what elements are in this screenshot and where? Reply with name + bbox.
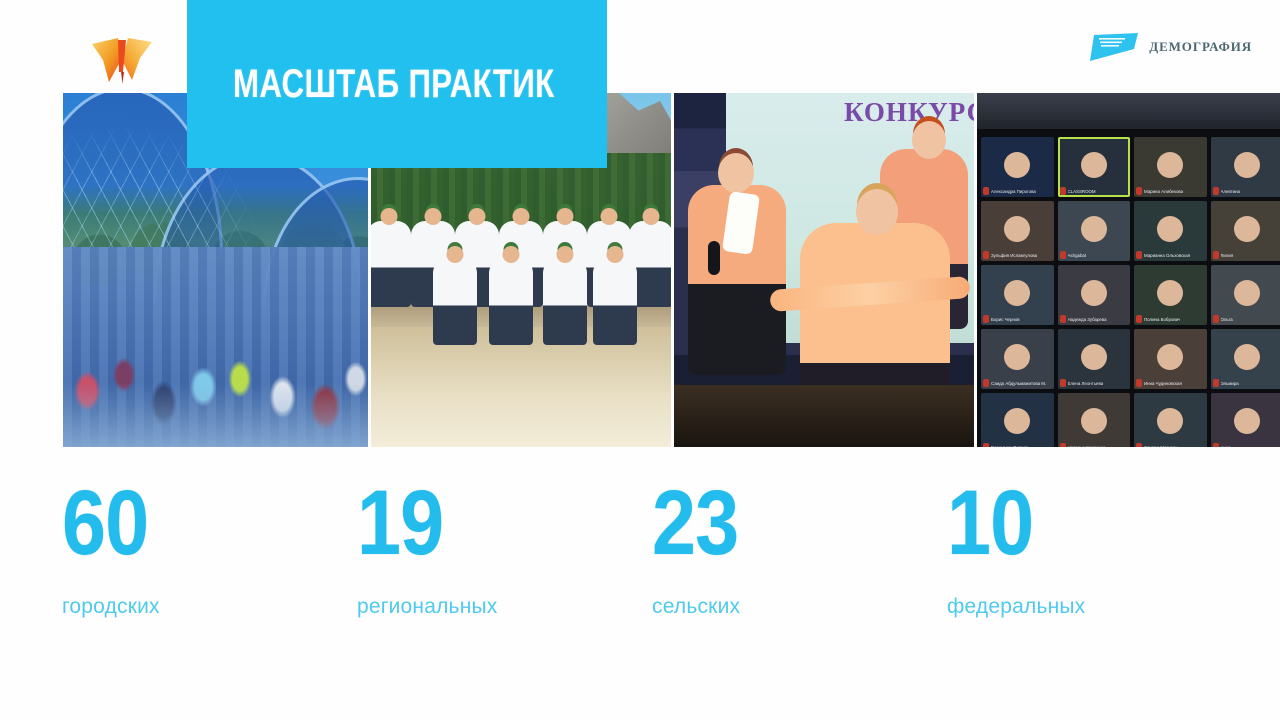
- mic-muted-icon: [1213, 379, 1219, 387]
- participant-nametag: Марианна Ольховская: [1136, 251, 1190, 259]
- participant-name-label: Лилия: [1221, 253, 1234, 258]
- mic-muted-icon: [1213, 315, 1219, 323]
- participant-nametag: Владимир Попков: [983, 443, 1028, 447]
- mic-muted-icon: [983, 251, 989, 259]
- mic-muted-icon: [1060, 379, 1066, 387]
- mic-muted-icon: [1213, 443, 1219, 447]
- zoom-participant-tile[interactable]: Эльмира: [1211, 329, 1280, 389]
- participant-name-label: Владимир Попков: [991, 445, 1028, 448]
- mic-muted-icon: [1136, 443, 1142, 447]
- participant-nametag: Ольга: [1213, 315, 1233, 323]
- participant-nametag: Лилия: [1213, 251, 1234, 259]
- participant-avatar: [1004, 216, 1030, 242]
- stage-banner-text: КОНКУРС: [844, 97, 974, 128]
- participant-name-label: Саида Абдульмажитова М.: [991, 381, 1046, 386]
- zoom-participant-tile[interactable]: Борис Чернов: [981, 265, 1054, 325]
- participant-name-label: Марина Алибекова: [1144, 189, 1183, 194]
- participant-name-label: Ольга: [1221, 317, 1233, 322]
- zoom-participant-tile[interactable]: Марина Алибекова: [1134, 137, 1207, 197]
- mic-muted-icon: [1060, 187, 1066, 195]
- stat-value: 10: [947, 480, 1185, 567]
- demografia-flag-icon: [1088, 31, 1140, 63]
- zoom-participant-tile[interactable]: Полина Бобрович: [1134, 265, 1207, 325]
- participant-avatar: [1157, 344, 1183, 370]
- brand-name-label: ДЕМОГРАФИЯ: [1149, 39, 1252, 55]
- stat-rural: 23 сельских: [634, 480, 929, 660]
- participant-avatar: [1157, 408, 1183, 434]
- participant-avatar: [1004, 344, 1030, 370]
- slide-root: ДЕМОГРАФИЯ МАСШТАБ ПРАКТИК: [0, 0, 1280, 720]
- stat-label: городских: [62, 595, 339, 619]
- mic-muted-icon: [1213, 187, 1219, 195]
- microphone-icon: [708, 241, 720, 275]
- origami-crane-icon: [88, 30, 156, 86]
- group-person: [489, 259, 533, 345]
- sand-layer: [371, 327, 671, 447]
- group-person: [433, 259, 477, 345]
- participant-avatar: [1157, 216, 1183, 242]
- stat-federal: 10 федеральных: [929, 480, 1224, 660]
- zoom-participant-tile[interactable]: Анна: [1211, 393, 1280, 447]
- participant-nametag: Борис Чернов: [983, 315, 1020, 323]
- participant-nametag: Алевтина: [1213, 187, 1241, 195]
- participant-name-label: Полина Бобрович: [1144, 317, 1180, 322]
- group-person: [593, 259, 637, 345]
- participant-name-label: CLASSROOM: [1068, 189, 1096, 194]
- stat-value: 19: [357, 480, 595, 567]
- zoom-participant-grid: Александра ПироговаCLASSROOMМарина Алибе…: [981, 137, 1280, 447]
- participant-name-label: Марианна Ольховская: [1144, 253, 1190, 258]
- participant-avatar: [1081, 280, 1107, 306]
- participant-name-label: Борис Чернов: [991, 317, 1020, 322]
- mic-muted-icon: [1060, 251, 1066, 259]
- participant-nametag: Саида Абдульмажитова М.: [983, 379, 1046, 387]
- participant-name-label: Наталья Сорокина: [1068, 445, 1106, 448]
- participant-nametag: Полина Бобрович: [1136, 315, 1180, 323]
- mic-muted-icon: [983, 379, 989, 387]
- performer-head-left: [718, 153, 754, 193]
- participant-avatar: [1081, 216, 1107, 242]
- stat-city: 60 городских: [44, 480, 339, 660]
- participant-nametag: Наталья Сорокина: [1060, 443, 1106, 447]
- participant-avatar: [1157, 280, 1183, 306]
- zoom-participant-tile[interactable]: Лилия: [1211, 201, 1280, 261]
- participant-avatar: [1234, 152, 1260, 178]
- brand-logo: ДЕМОГРАФИЯ: [1088, 30, 1252, 64]
- title-banner: МАСШТАБ ПРАКТИК: [187, 0, 607, 168]
- zoom-participant-tile[interactable]: Эдуард Мазурин: [1134, 393, 1207, 447]
- participant-nametag: CLASSROOM: [1060, 187, 1096, 195]
- participant-name-label: Эльмира: [1221, 381, 1239, 386]
- mic-muted-icon: [1060, 315, 1066, 323]
- participant-name-label: Алевтина: [1221, 189, 1241, 194]
- mic-muted-icon: [1136, 251, 1142, 259]
- zoom-participant-tile[interactable]: Инна Чудиновская: [1134, 329, 1207, 389]
- participant-nametag: Анна: [1213, 443, 1231, 447]
- participant-avatar: [1004, 152, 1030, 178]
- participant-avatar: [1234, 408, 1260, 434]
- participant-avatar: [1004, 280, 1030, 306]
- participant-nametag: Эдуард Мазурин: [1136, 443, 1178, 447]
- performer-head-right: [912, 121, 946, 159]
- participant-name-label: Эдуард Мазурин: [1144, 445, 1178, 448]
- zoom-participant-tile[interactable]: Саида Абдульмажитова М.: [981, 329, 1054, 389]
- participant-nametag: Елена Леонтьева: [1060, 379, 1104, 387]
- zoom-participant-tile[interactable]: Владимир Попков: [981, 393, 1054, 447]
- mic-muted-icon: [1060, 443, 1066, 447]
- zoom-participant-tile[interactable]: CLASSROOM: [1058, 137, 1131, 197]
- stat-value: 60: [62, 480, 300, 567]
- group-person: [543, 259, 587, 345]
- participant-name-label: Анна: [1221, 445, 1231, 448]
- zoom-participant-tile[interactable]: Александра Пирогова: [981, 137, 1054, 197]
- participant-name-label: Елена Леонтьева: [1068, 381, 1104, 386]
- participant-nametag: Марина Алибекова: [1136, 187, 1183, 195]
- zoom-participant-tile[interactable]: Марианна Ольховская: [1134, 201, 1207, 261]
- participant-name-label: Зульфия Исламгулова: [991, 253, 1037, 258]
- mic-muted-icon: [983, 187, 989, 195]
- participant-avatar: [1081, 344, 1107, 370]
- stat-regional: 19 региональных: [339, 480, 634, 660]
- participant-name-label: Надежда Зубарева: [1068, 317, 1107, 322]
- stat-label: региональных: [357, 595, 634, 619]
- participant-nametag: Надежда Зубарева: [1060, 315, 1107, 323]
- participant-nametag: Ashgabat: [1060, 251, 1087, 259]
- participant-avatar: [1157, 152, 1183, 178]
- mic-muted-icon: [983, 443, 989, 447]
- zoom-participant-tile[interactable]: Ashgabat: [1058, 201, 1131, 261]
- participant-nametag: Александра Пирогова: [983, 187, 1036, 195]
- participant-name-label: Инна Чудиновская: [1144, 381, 1182, 386]
- zoom-participant-tile[interactable]: Ольга: [1211, 265, 1280, 325]
- zoom-participant-tile[interactable]: Елена Леонтьева: [1058, 329, 1131, 389]
- participant-name-label: Александра Пирогова: [991, 189, 1036, 194]
- participant-avatar: [1081, 152, 1107, 178]
- stats-row: 60 городских 19 региональных 23 сельских…: [0, 480, 1280, 660]
- participant-nametag: Инна Чудиновская: [1136, 379, 1182, 387]
- stat-label: сельских: [652, 595, 929, 619]
- photo-zoom-video-conference: Александра ПироговаCLASSROOMМарина Алибе…: [977, 93, 1280, 447]
- zoom-participant-tile[interactable]: Наталья Сорокина: [1058, 393, 1131, 447]
- zoom-participant-tile[interactable]: Алевтина: [1211, 137, 1280, 197]
- mic-muted-icon: [983, 315, 989, 323]
- zoom-participant-tile[interactable]: Зульфия Исламгулова: [981, 201, 1054, 261]
- mic-muted-icon: [1213, 251, 1219, 259]
- stage-floor: [674, 385, 974, 447]
- page-title: МАСШТАБ ПРАКТИК: [233, 62, 555, 107]
- performer-head-center: [856, 189, 898, 235]
- participant-avatar: [1081, 408, 1107, 434]
- participant-avatar: [1004, 408, 1030, 434]
- participant-avatar: [1234, 216, 1260, 242]
- zoom-topbar: [977, 93, 1280, 129]
- mic-muted-icon: [1136, 187, 1142, 195]
- participant-name-label: Ashgabat: [1068, 253, 1087, 258]
- participant-nametag: Зульфия Исламгулова: [983, 251, 1037, 259]
- stat-label: федеральных: [947, 595, 1224, 619]
- ground-layer: [63, 383, 368, 447]
- mic-muted-icon: [1136, 379, 1142, 387]
- mic-muted-icon: [1136, 315, 1142, 323]
- participant-nametag: Эльмира: [1213, 379, 1239, 387]
- participant-avatar: [1234, 280, 1260, 306]
- zoom-participant-tile[interactable]: Надежда Зубарева: [1058, 265, 1131, 325]
- group-person: [371, 221, 411, 307]
- stat-value: 23: [652, 480, 890, 567]
- participant-avatar: [1234, 344, 1260, 370]
- photo-stage-performance: КОНКУРС: [674, 93, 974, 447]
